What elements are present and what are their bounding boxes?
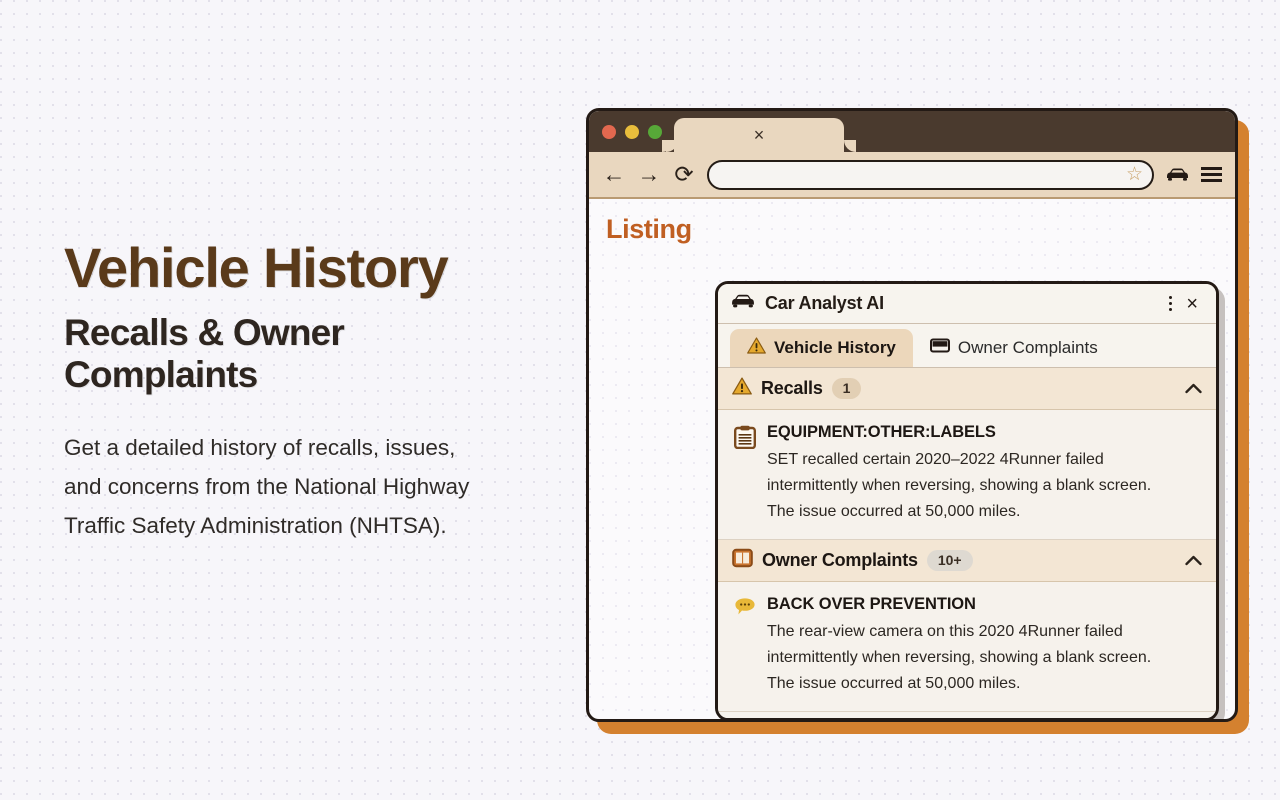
page-title: Vehicle History — [64, 238, 534, 298]
address-bar[interactable]: ☆ — [707, 160, 1154, 190]
panel-close-icon[interactable]: × — [1180, 294, 1204, 314]
complaint-description: The rear-view camera on this 2020 4Runne… — [767, 619, 1200, 697]
section-title: Recalls — [761, 378, 823, 399]
recalls-count-badge: 1 — [832, 378, 862, 399]
recall-entry-body: EQUIPMENT:OTHER:LABELS SET recalled cert… — [767, 423, 1200, 525]
page-subtitle: Recalls & Owner Complaints — [64, 312, 464, 395]
section-title: Owner Complaints — [762, 550, 918, 571]
chevron-up-icon[interactable] — [1185, 552, 1202, 569]
car-extension-icon[interactable] — [1165, 167, 1190, 182]
more-options-icon[interactable] — [1161, 292, 1180, 315]
window-controls — [602, 125, 662, 139]
section-header-owner-complaints[interactable]: Owner Complaints 10+ — [718, 540, 1216, 582]
hero-description: Get a detailed history of recalls, issue… — [64, 429, 484, 546]
chevron-up-icon[interactable] — [1185, 380, 1202, 397]
section-header-recalls[interactable]: Recalls 1 — [718, 368, 1216, 410]
tab-owner-complaints[interactable]: Owner Complaints — [913, 329, 1115, 367]
back-icon[interactable]: ← — [602, 163, 626, 186]
forward-icon[interactable]: → — [637, 163, 661, 186]
minimize-window-button[interactable] — [625, 125, 639, 139]
warning-triangle-icon — [732, 377, 752, 400]
car-icon — [730, 293, 756, 314]
complaints-count-badge: 10+ — [927, 550, 973, 571]
car-analyst-panel: Car Analyst AI × Vehicle History — [715, 281, 1219, 721]
bookmark-star-icon[interactable]: ☆ — [1126, 165, 1143, 184]
browser-page-content: Listing Car Analyst AI × — [589, 199, 1235, 722]
close-window-button[interactable] — [602, 125, 616, 139]
complaint-entry-body: BACK OVER PREVENTION The rear-view camer… — [767, 595, 1200, 697]
hero-section: Vehicle History Recalls & Owner Complain… — [64, 238, 534, 546]
listing-heading: Listing — [606, 214, 692, 245]
maximize-window-button[interactable] — [648, 125, 662, 139]
tab-close-icon[interactable]: × — [754, 126, 765, 144]
book-icon — [732, 548, 753, 573]
browser-tab[interactable]: × — [674, 118, 844, 152]
recall-title: EQUIPMENT:OTHER:LABELS — [767, 423, 1200, 442]
panel-tabbar: Vehicle History Owner Complaints — [718, 324, 1216, 368]
recall-description: SET recalled certain 2020–2022 4Runner f… — [767, 447, 1200, 525]
panel-header: Car Analyst AI × — [718, 284, 1216, 324]
tab-label: Vehicle History — [774, 338, 896, 358]
panel-title: Car Analyst AI — [765, 293, 884, 314]
tab-vehicle-history[interactable]: Vehicle History — [730, 329, 913, 367]
browser-titlebar: × — [589, 111, 1235, 152]
reload-icon[interactable]: ⟳ — [672, 163, 696, 186]
complaint-title: BACK OVER PREVENTION — [767, 595, 1200, 614]
complaint-entry[interactable]: STEERING Electronic steering failed at 6… — [718, 712, 1216, 721]
recall-entry[interactable]: EQUIPMENT:OTHER:LABELS SET recalled cert… — [718, 410, 1216, 540]
menu-icon[interactable] — [1201, 167, 1222, 182]
speech-bubble-icon — [734, 597, 756, 697]
browser-window: × ← → ⟳ ☆ Listing — [586, 108, 1238, 722]
message-card-icon — [930, 338, 950, 358]
warning-triangle-icon — [747, 337, 766, 359]
clipboard-icon — [734, 425, 756, 525]
browser-toolbar: ← → ⟳ ☆ — [589, 152, 1235, 199]
complaint-entry[interactable]: BACK OVER PREVENTION The rear-view camer… — [718, 582, 1216, 712]
tab-label: Owner Complaints — [958, 338, 1098, 358]
